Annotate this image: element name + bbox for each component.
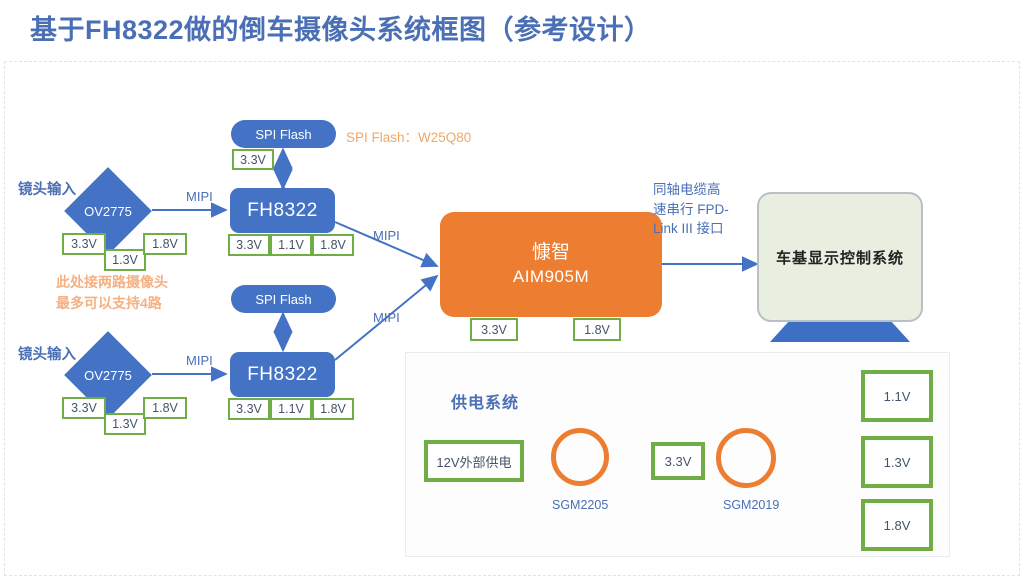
isp-voltage-tag-1a: 3.3V	[228, 234, 270, 256]
isp-voltage-tag-1c: 1.8V	[312, 234, 354, 256]
display-node[interactable]: 车基显示控制系统	[757, 192, 923, 322]
isp-node-2[interactable]: FH8322	[230, 352, 335, 397]
power-system-title: 供电系统	[451, 389, 519, 413]
soc-node[interactable]: 慷智 AIM905M	[440, 212, 662, 317]
sensor-voltage-tag-2b: 1.3V	[104, 413, 146, 435]
spi-flash-voltage-tag-1: 3.3V	[232, 149, 274, 170]
camera-count-note-line1: 此处接两路摄像头	[56, 272, 168, 293]
camera-count-note-line2: 最多可以支持4路	[56, 293, 168, 314]
soc-voltage-tag-b: 1.8V	[573, 318, 621, 341]
sensor-voltage-tag-1b: 1.3V	[104, 249, 146, 271]
regulator-2-ring	[716, 428, 776, 488]
sensor-voltage-tag-2a: 3.3V	[62, 397, 106, 419]
power-output-box-2: 1.3V	[861, 436, 933, 488]
camera-count-note: 此处接两路摄像头 最多可以支持4路	[56, 272, 168, 314]
fpd-link-note-line1: 同轴电缆高	[653, 180, 768, 200]
soc-voltage-tag-a: 3.3V	[470, 318, 518, 341]
intermediate-rail-box: 3.3V	[651, 442, 705, 480]
camera-input-label-1: 镜头输入	[18, 178, 76, 199]
sensor-voltage-tag-2c: 1.8V	[143, 397, 187, 419]
regulator-2-label: SGM2019	[723, 498, 779, 512]
monitor-stand	[770, 322, 910, 342]
slide-canvas: 基于FH8322做的倒车摄像头系统框图（参考设计）	[0, 0, 1024, 583]
isp-voltage-tag-2c: 1.8V	[312, 398, 354, 420]
isp-node-1[interactable]: FH8322	[230, 188, 335, 233]
flash-part-note: SPI Flash：W25Q80	[346, 126, 471, 146]
soc-brand: 慷智	[532, 240, 570, 266]
isp-voltage-tag-2a: 3.3V	[228, 398, 270, 420]
soc-part: AIM905M	[513, 266, 589, 289]
isp-voltage-tag-2b: 1.1V	[270, 398, 312, 420]
spi-flash-node-2[interactable]: SPI Flash	[231, 285, 336, 313]
mipi-label-1: MIPI	[186, 189, 213, 204]
camera-input-label-2: 镜头输入	[18, 343, 76, 364]
power-output-box-1: 1.1V	[861, 370, 933, 422]
spi-flash-node-1[interactable]: SPI Flash	[231, 120, 336, 148]
fpd-link-note-line3: Link III 接口	[653, 219, 768, 239]
power-output-box-3: 1.8V	[861, 499, 933, 551]
sensor-voltage-tag-1a: 3.3V	[62, 233, 106, 255]
power-source-box: 12V外部供电	[424, 440, 524, 482]
sensor-voltage-tag-1c: 1.8V	[143, 233, 187, 255]
mipi-label-2: MIPI	[186, 353, 213, 368]
regulator-1-ring	[551, 428, 609, 486]
regulator-1-label: SGM2205	[552, 498, 608, 512]
fpd-link-note: 同轴电缆高 速串行 FPD- Link III 接口	[653, 180, 768, 239]
mipi-out-label-1: MIPI	[373, 228, 400, 243]
page-title: 基于FH8322做的倒车摄像头系统框图（参考设计）	[30, 8, 652, 47]
fpd-link-note-line2: 速串行 FPD-	[653, 200, 768, 220]
isp-voltage-tag-1b: 1.1V	[270, 234, 312, 256]
mipi-out-label-2: MIPI	[373, 310, 400, 325]
